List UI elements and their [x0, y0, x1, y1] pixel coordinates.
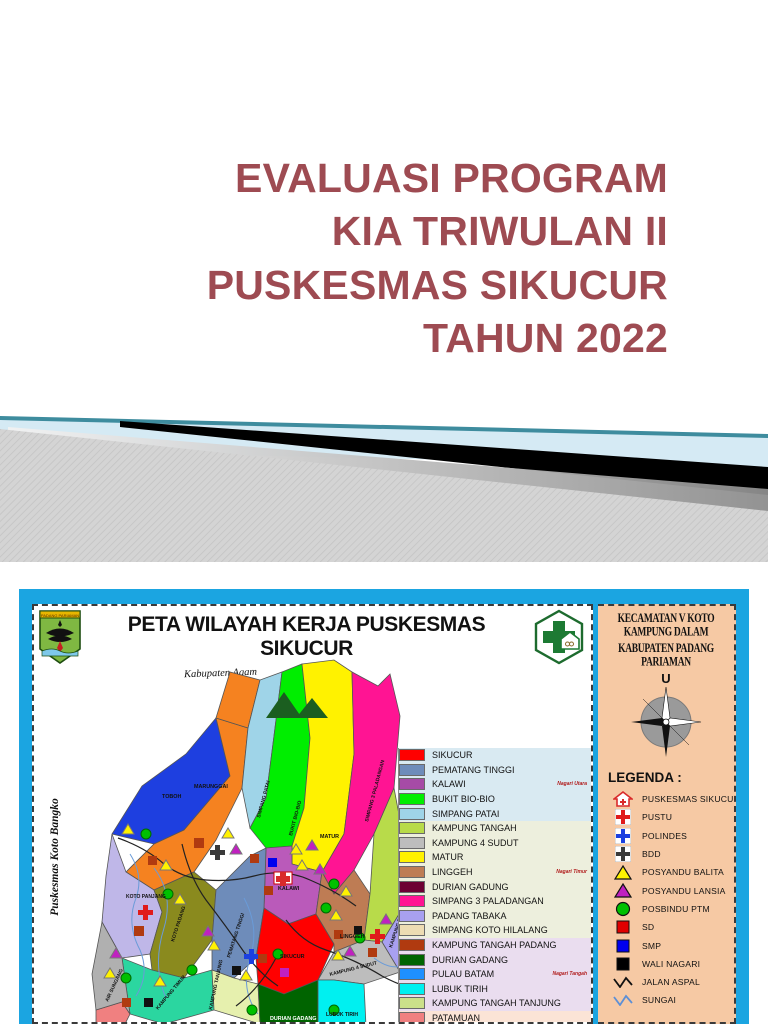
color-legend-row: PEMATANG TINGGI — [399, 763, 591, 778]
color-legend-label: KAMPUNG TANGAH TANJUNG — [432, 998, 587, 1008]
nagari-group-tag: Nagari Timur — [556, 869, 591, 875]
legenda-panel: KECAMATAN V KOTO KAMPUNG DALAM KABUPATEN… — [598, 604, 736, 1024]
red-cross-icon — [612, 809, 634, 825]
color-swatch — [399, 793, 425, 805]
color-legend-label: MATUR — [432, 852, 587, 862]
svg-text:LINGGEH: LINGGEH — [340, 934, 365, 940]
color-legend-label: DURIAN GADUNG — [432, 882, 587, 892]
page-title: EVALUASI PROGRAM KIA TRIWULAN II PUSKESM… — [68, 152, 668, 365]
blue-cross-icon — [612, 828, 634, 844]
color-legend-label: PADANG TABAKA — [432, 911, 587, 921]
black-square-icon — [612, 956, 634, 972]
legenda-row: POLINDES — [606, 827, 726, 845]
svg-text:DURIAN GADANG: DURIAN GADANG — [270, 1016, 316, 1022]
legenda-label: SUNGAI — [642, 995, 676, 1005]
svg-text:KOTO PANJANG: KOTO PANJANG — [126, 894, 166, 900]
legenda-row: PUSKESMAS SIKUCUR — [606, 790, 726, 808]
banner-shapes — [0, 415, 768, 580]
title-line-1: EVALUASI PROGRAM — [68, 152, 668, 205]
legenda-items-list: PUSKESMAS SIKUCURPUSTUPOLINDESBDDPOSYAND… — [606, 790, 726, 1010]
legenda-row: BDD — [606, 845, 726, 863]
legenda-row: POSYANDU LANSIA — [606, 881, 726, 899]
color-swatch — [399, 939, 425, 951]
color-legend-row: SIMPANG 3 PALADANGAN — [399, 894, 591, 909]
legenda-row: JALAN ASPAL — [606, 973, 726, 991]
color-swatch — [399, 749, 425, 761]
legenda-label: JALAN ASPAL — [642, 977, 700, 987]
color-legend-label: SIMPANG PATAI — [432, 809, 587, 819]
legenda-label: POSBINDU PTM — [642, 904, 710, 914]
title-line-2: KIA TRIWULAN II — [68, 205, 668, 258]
map-title-row: PADANG PARIAMAN PETA WILAYAH KERJA PUSKE… — [34, 606, 591, 664]
legenda-header-line-2: KABUPATEN PADANG PARIAMAN — [606, 643, 726, 670]
legenda-row: SMP — [606, 936, 726, 954]
color-legend-row: LUBUK TIRIH — [399, 982, 591, 997]
legenda-row: POSBINDU PTM — [606, 900, 726, 918]
color-legend-label: KAMPUNG TANGAH PADANG — [432, 940, 587, 950]
nagari-group-tag: Nagari Utara — [557, 781, 591, 787]
color-swatch — [399, 910, 425, 922]
color-swatch — [399, 968, 425, 980]
svg-text:KALAWI: KALAWI — [278, 886, 300, 892]
svg-text:PADANG PARIAMAN: PADANG PARIAMAN — [41, 613, 79, 618]
svg-text:MATUR: MATUR — [320, 834, 339, 840]
magenta-triangle-icon — [612, 883, 634, 899]
color-legend-row: KAMPUNG TANGAH — [399, 821, 591, 836]
color-legend-label: BUKIT BIO-BIO — [432, 794, 587, 804]
svg-text:LUBUK TIRIH: LUBUK TIRIH — [326, 1012, 358, 1018]
color-swatch — [399, 895, 425, 907]
legenda-header-line-1: KECAMATAN V KOTO KAMPUNG DALAM — [606, 613, 726, 640]
blue-zigzag-line-icon — [612, 992, 634, 1008]
legenda-title: LEGENDA : — [608, 770, 726, 785]
color-legend-row: LINGGEHNagari Timur — [399, 865, 591, 880]
padang-pariaman-crest-icon: PADANG PARIAMAN — [38, 609, 82, 665]
color-legend-row: KALAWINagari Utara — [399, 777, 591, 792]
legenda-label: SMP — [642, 941, 661, 951]
color-swatch — [399, 997, 425, 1009]
color-swatch — [399, 924, 425, 936]
color-legend-label: SIKUCUR — [432, 750, 587, 760]
color-legend-row: KAMPUNG TANGAH TANJUNG — [399, 996, 591, 1011]
color-swatch — [399, 954, 425, 966]
color-legend-label: DURIAN GADANG — [432, 955, 587, 965]
title-line-4: TAHUN 2022 — [68, 312, 668, 365]
color-legend-label: KAMPUNG 4 SUDUT — [432, 838, 587, 848]
legenda-label: POLINDES — [642, 831, 687, 841]
map-inner: PADANG PARIAMAN PETA WILAYAH KERJA PUSKE… — [32, 604, 736, 1024]
color-legend-row: BUKIT BIO-BIO — [399, 792, 591, 807]
title-slide-area: EVALUASI PROGRAM KIA TRIWULAN II PUSKESM… — [0, 0, 768, 415]
legenda-label: SD — [642, 922, 654, 932]
color-swatch — [399, 837, 425, 849]
color-legend-label: KALAWI — [432, 779, 557, 789]
compass-rose-icon — [629, 685, 703, 759]
region-koto-padang — [150, 872, 216, 978]
blue-square-icon — [612, 938, 634, 954]
color-swatch — [399, 1012, 425, 1024]
compass-rose: U — [606, 672, 726, 764]
decorative-banner — [0, 415, 768, 580]
svg-text:TOBOH: TOBOH — [162, 794, 181, 800]
color-legend-row: KAMPUNG TANGAH PADANG — [399, 938, 591, 953]
svg-text:SIKUCUR: SIKUCUR — [280, 954, 305, 960]
legenda-row: SD — [606, 918, 726, 936]
color-legend-row: SIKUCUR — [399, 748, 591, 763]
legenda-label: BDD — [642, 849, 661, 859]
color-legend-label: PATAMUAN — [432, 1013, 587, 1023]
dark-cross-icon — [612, 846, 634, 862]
legenda-label: PUSTU — [642, 812, 672, 822]
color-legend-row: DURIAN GADANG — [399, 952, 591, 967]
map-title: PETA WILAYAH KERJA PUSKESMAS SIKUCUR — [82, 613, 531, 661]
puskesmas-house-icon — [612, 791, 634, 807]
compass-north-label: U — [606, 672, 726, 685]
color-legend-label: SIMPANG KOTO HILALANG — [432, 925, 587, 935]
legenda-row: POSYANDU BALITA — [606, 863, 726, 881]
color-swatch — [399, 764, 425, 776]
color-legend-row: SIMPANG KOTO HILALANG — [399, 923, 591, 938]
color-swatch — [399, 866, 425, 878]
color-legend-label: PULAU BATAM — [432, 969, 552, 979]
black-zigzag-line-icon — [612, 974, 634, 990]
color-legend-row: PULAU BATAMNagari Tangah — [399, 967, 591, 982]
color-swatch — [399, 822, 425, 834]
color-legend-label: LUBUK TIRIH — [432, 984, 587, 994]
puskesmas-logo-icon — [531, 609, 587, 665]
legenda-label: POSYANDU LANSIA — [642, 886, 726, 896]
color-legend-label: PEMATANG TINGGI — [432, 765, 587, 775]
color-legend-row: DURIAN GADUNG — [399, 879, 591, 894]
green-circle-icon — [612, 901, 634, 917]
color-legend-row: PADANG TABAKA — [399, 909, 591, 924]
legenda-row: PUSTU — [606, 808, 726, 826]
color-legend-label: KAMPUNG TANGAH — [432, 823, 587, 833]
legenda-label: PUSKESMAS SIKUCUR — [642, 794, 736, 804]
legenda-row: WALI NAGARI — [606, 955, 726, 973]
color-swatch — [399, 851, 425, 863]
legenda-row: SUNGAI — [606, 991, 726, 1009]
svg-text:MARUNGGAI: MARUNGGAI — [194, 784, 228, 790]
red-square-icon — [612, 919, 634, 935]
color-legend-row: SIMPANG PATAI — [399, 806, 591, 821]
yellow-triangle-icon — [612, 864, 634, 880]
color-swatch — [399, 808, 425, 820]
legenda-label: POSYANDU BALITA — [642, 867, 724, 877]
color-swatch — [399, 983, 425, 995]
color-legend-row: KAMPUNG 4 SUDUT — [399, 836, 591, 851]
nagari-group-tag: Nagari Tangah — [552, 971, 591, 977]
color-legend-label: LINGGEH — [432, 867, 556, 877]
color-legend-row: PATAMUAN — [399, 1011, 591, 1024]
map-card: PADANG PARIAMAN PETA WILAYAH KERJA PUSKE… — [19, 589, 749, 1024]
title-line-3: PUSKESMAS SIKUCUR — [68, 259, 668, 312]
color-legend-row: MATUR — [399, 850, 591, 865]
color-swatch — [399, 881, 425, 893]
map-panel: PADANG PARIAMAN PETA WILAYAH KERJA PUSKE… — [32, 604, 593, 1024]
color-legend-list: SIKUCURPEMATANG TINGGIKALAWINagari Utara… — [398, 748, 591, 1024]
legenda-label: WALI NAGARI — [642, 959, 700, 969]
color-swatch — [399, 778, 425, 790]
color-legend-label: SIMPANG 3 PALADANGAN — [432, 896, 587, 906]
